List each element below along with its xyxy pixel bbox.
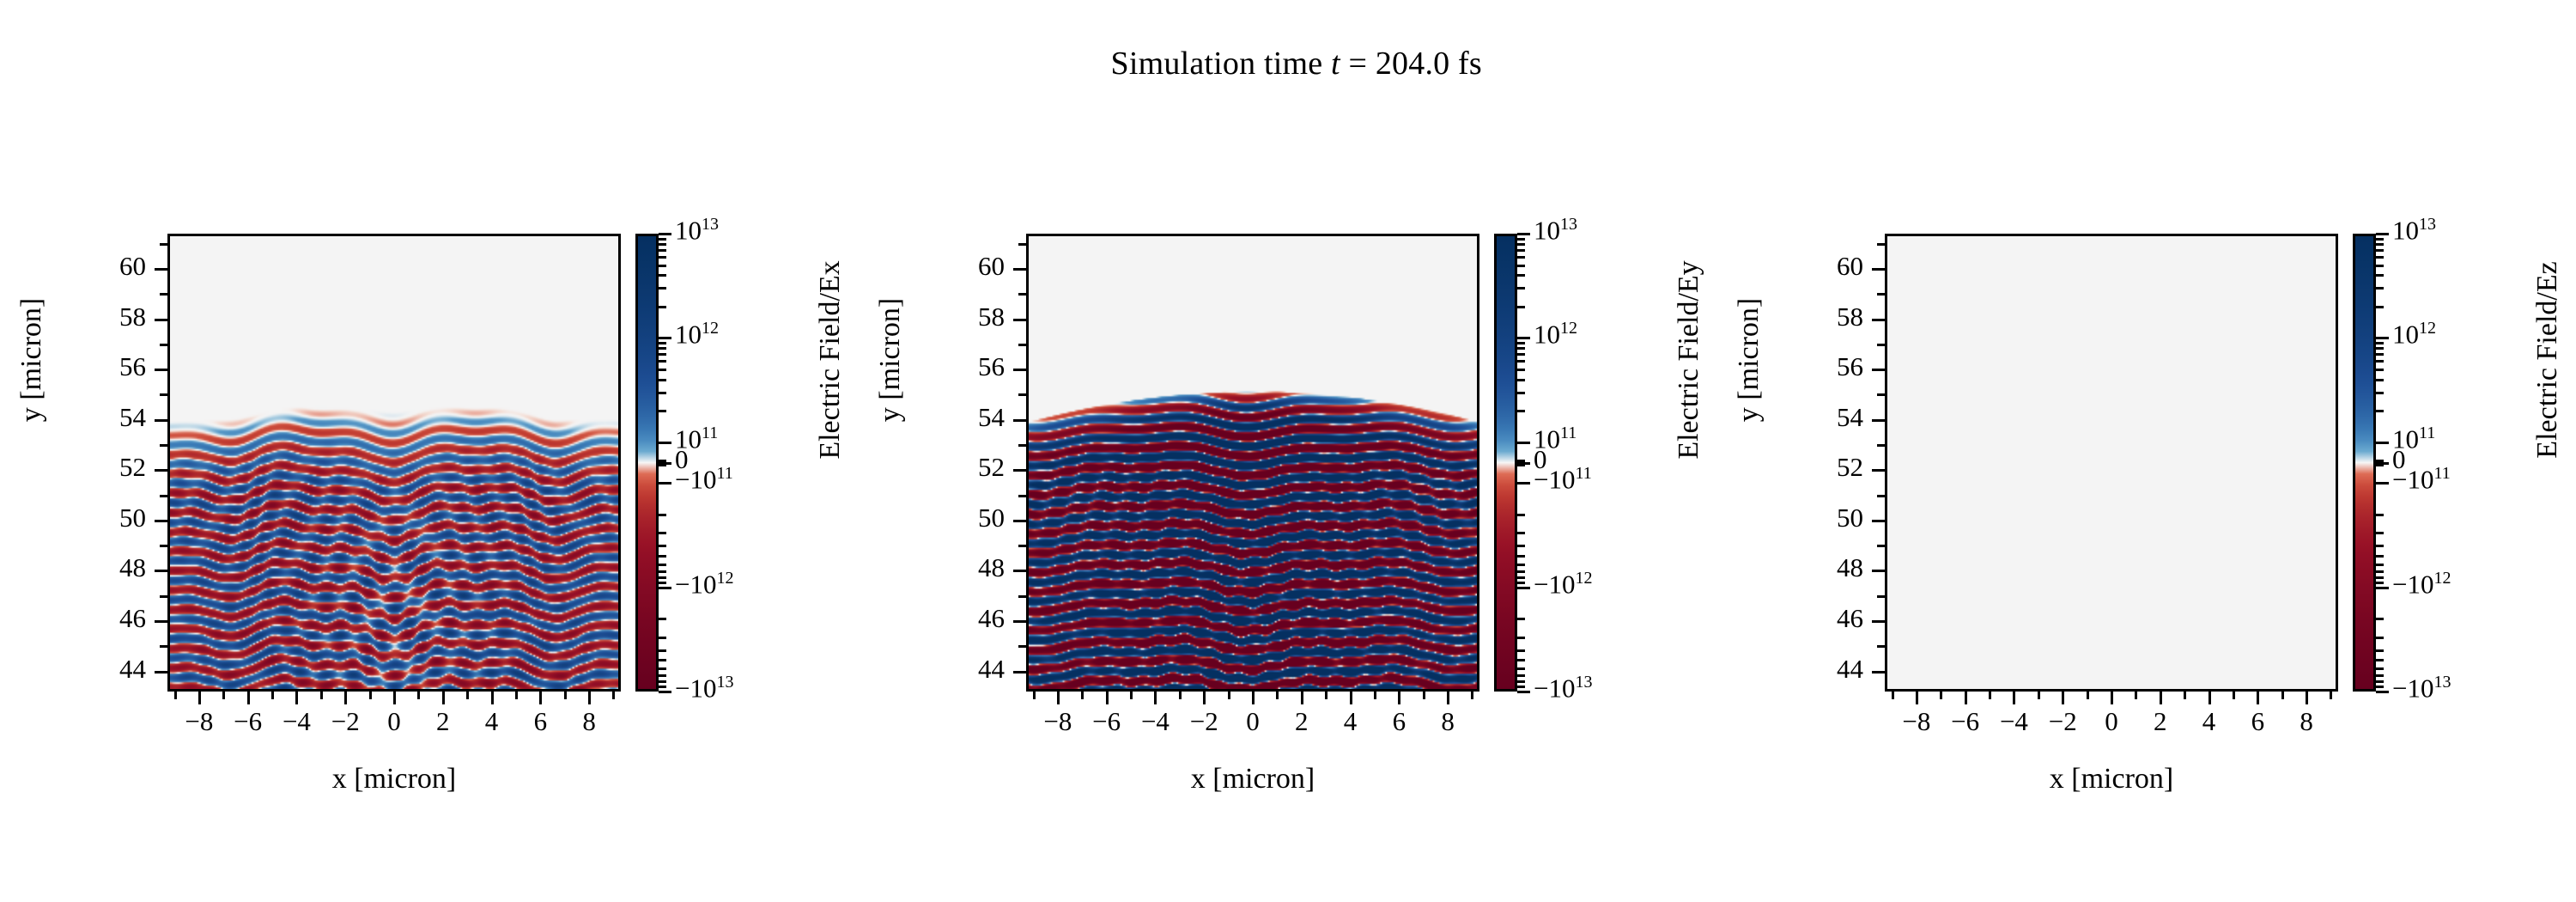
colorbar-axis-title: Electric Field/Ex xyxy=(814,180,847,540)
y-tick-label: 54 xyxy=(1760,402,1863,433)
x-tick-major xyxy=(2111,692,2113,704)
y-tick-minor xyxy=(1018,243,1026,246)
colorbar-tick-minor xyxy=(659,659,666,661)
colorbar-tick-minor xyxy=(1517,342,1525,344)
x-tick-label: 2 xyxy=(1295,706,1309,737)
x-tick-label: −2 xyxy=(2049,706,2077,737)
colorbar-tick-major xyxy=(1517,442,1530,444)
x-tick-major xyxy=(539,692,542,704)
x-tick-minor xyxy=(1179,692,1182,699)
colorbar-tick-minor xyxy=(1517,274,1525,277)
field-heatmap-ex xyxy=(170,236,618,689)
x-tick-major xyxy=(2160,692,2162,704)
colorbar-tick-minor xyxy=(1517,582,1525,584)
colorbar-tick-major xyxy=(1517,233,1530,235)
colorbar-tick-minor xyxy=(659,265,666,267)
colorbar-tick-minor xyxy=(659,410,666,412)
colorbar-tick-minor xyxy=(659,674,666,677)
colorbar-tick-minor xyxy=(2376,555,2384,558)
colorbar-tick-minor xyxy=(659,306,666,308)
colorbar-tick-minor xyxy=(2376,618,2384,620)
y-tick-minor xyxy=(160,393,167,396)
y-tick-minor xyxy=(160,243,167,246)
x-tick-major xyxy=(2013,692,2015,704)
y-tick-minor xyxy=(1018,595,1026,598)
y-tick-label: 52 xyxy=(1760,452,1863,483)
colorbar-ey xyxy=(1494,234,1517,692)
colorbar-tick-major xyxy=(2376,587,2389,589)
y-axis-title: y [micron] xyxy=(874,222,907,497)
y-tick-label: 48 xyxy=(1760,552,1863,583)
x-tick-label: −4 xyxy=(1141,706,1170,737)
colorbar-tick-minor xyxy=(1517,249,1525,252)
colorbar-axis-title: Electric Field/Ey xyxy=(1673,180,1705,540)
y-tick-minor xyxy=(1018,645,1026,648)
colorbar-tick-label: 1013 xyxy=(675,215,719,246)
colorbar-tick-minor xyxy=(1517,545,1525,547)
y-tick-label: 46 xyxy=(902,603,1005,634)
y-tick-label: 58 xyxy=(902,302,1005,332)
y-tick-minor xyxy=(1877,595,1885,598)
y-tick-label: 54 xyxy=(902,402,1005,433)
colorbar-tick-minor xyxy=(1517,659,1525,661)
colorbar-tick-major xyxy=(1517,482,1530,485)
colorbar-tick-label: −1012 xyxy=(675,569,733,600)
colorbar-tick-minor xyxy=(659,347,666,350)
colorbar-tick-label: −1012 xyxy=(2392,569,2451,600)
colorbar-tick-minor xyxy=(659,249,666,252)
x-tick-minor xyxy=(1228,692,1230,699)
colorbar-tick-minor xyxy=(1517,287,1525,289)
x-tick-label: −4 xyxy=(2000,706,2028,737)
x-tick-minor xyxy=(1325,692,1327,699)
colorbar-tick-minor xyxy=(1517,555,1525,558)
colorbar-tick-major xyxy=(2376,482,2389,485)
x-tick-minor xyxy=(466,692,469,699)
x-tick-label: −6 xyxy=(234,706,262,737)
colorbar-tick-minor xyxy=(2376,460,2384,462)
colorbar-tick-minor xyxy=(2376,410,2384,412)
colorbar-tick-minor xyxy=(1517,514,1525,516)
colorbar-tick-minor xyxy=(2376,392,2384,394)
y-tick-major xyxy=(155,520,167,522)
x-tick-major xyxy=(1252,692,1255,704)
x-tick-minor xyxy=(271,692,274,699)
y-tick-label: 50 xyxy=(43,503,146,533)
x-tick-label: −8 xyxy=(1902,706,1930,737)
colorbar-tick-minor xyxy=(1517,460,1525,462)
y-tick-label: 44 xyxy=(43,654,146,685)
colorbar-gradient xyxy=(638,236,656,689)
x-axis-title: x [micron] xyxy=(1026,763,1479,795)
y-tick-major xyxy=(155,570,167,572)
colorbar-tick-minor xyxy=(1517,360,1525,363)
x-tick-major xyxy=(1965,692,1967,704)
colorbar-tick-minor xyxy=(2376,464,2384,466)
colorbar-tick-major xyxy=(659,337,671,339)
x-tick-label: 0 xyxy=(1246,706,1260,737)
y-tick-major xyxy=(155,419,167,422)
y-tick-major xyxy=(155,319,167,321)
colorbar-tick-minor xyxy=(2376,564,2384,566)
x-tick-minor xyxy=(2087,692,2089,699)
y-tick-label: 48 xyxy=(902,552,1005,583)
colorbar-tick-minor xyxy=(659,342,666,344)
colorbar-tick-major xyxy=(2376,233,2389,235)
colorbar-tick-minor xyxy=(659,555,666,558)
colorbar-tick-minor xyxy=(2376,287,2384,289)
colorbar-tick-minor xyxy=(2376,360,2384,363)
x-tick-minor xyxy=(1081,692,1084,699)
y-tick-major xyxy=(155,620,167,623)
x-tick-label: 6 xyxy=(2251,706,2265,737)
x-tick-label: −6 xyxy=(1951,706,1979,737)
colorbar-tick-label: −1013 xyxy=(1534,673,1592,704)
colorbar-tick-minor xyxy=(659,353,666,356)
x-tick-major xyxy=(1106,692,1109,704)
y-tick-major xyxy=(1013,620,1026,623)
x-tick-major xyxy=(1057,692,1060,704)
colorbar-tick-minor xyxy=(659,238,666,241)
panel-ey: 444648505254565860−8−6−4−202468y [micron… xyxy=(859,0,1717,902)
x-tick-major xyxy=(247,692,250,704)
colorbar-tick-minor xyxy=(659,274,666,277)
colorbar-tick-minor xyxy=(2376,379,2384,381)
y-tick-major xyxy=(155,268,167,271)
colorbar-tick-minor xyxy=(1517,369,1525,371)
y-tick-label: 50 xyxy=(902,503,1005,533)
y-tick-major xyxy=(1013,268,1026,271)
colorbar-tick-label: −1011 xyxy=(2392,464,2451,495)
colorbar-tick-minor xyxy=(1517,667,1525,670)
x-tick-major xyxy=(344,692,347,704)
colorbar-tick-minor xyxy=(2376,582,2384,584)
y-tick-label: 58 xyxy=(43,302,146,332)
colorbar-tick-major xyxy=(659,691,671,693)
plot-area-ex xyxy=(167,234,621,692)
x-tick-minor xyxy=(1130,692,1133,699)
y-tick-minor xyxy=(160,293,167,296)
y-tick-minor xyxy=(160,495,167,497)
colorbar-tick-minor xyxy=(1517,265,1525,267)
colorbar-tick-label: 1012 xyxy=(675,319,719,350)
colorbar-tick-minor xyxy=(2376,342,2384,344)
x-tick-major xyxy=(2208,692,2211,704)
y-tick-minor xyxy=(1018,545,1026,547)
colorbar-tick-minor xyxy=(659,680,666,683)
colorbar-tick-major xyxy=(659,233,671,235)
x-tick-major xyxy=(2306,692,2308,704)
colorbar-tick-minor xyxy=(2376,353,2384,356)
y-tick-minor xyxy=(1877,293,1885,296)
colorbar-axis-title: Electric Field/Ez xyxy=(2531,180,2564,540)
colorbar-tick-minor xyxy=(659,637,666,639)
x-tick-minor xyxy=(612,692,615,699)
x-tick-label: 4 xyxy=(1344,706,1358,737)
colorbar-tick-minor xyxy=(2376,265,2384,267)
y-tick-major xyxy=(1013,570,1026,572)
y-tick-minor xyxy=(1877,393,1885,396)
x-tick-minor xyxy=(2281,692,2284,699)
x-tick-minor xyxy=(1374,692,1376,699)
colorbar-tick-minor xyxy=(1517,464,1525,466)
y-tick-major xyxy=(1872,319,1885,321)
y-tick-major xyxy=(1872,268,1885,271)
x-tick-major xyxy=(1301,692,1303,704)
x-tick-label: −8 xyxy=(185,706,213,737)
y-axis-title: y [micron] xyxy=(1733,222,1765,497)
y-tick-minor xyxy=(1018,495,1026,497)
colorbar-tick-minor xyxy=(2376,686,2384,688)
colorbar-tick-minor xyxy=(659,532,666,534)
colorbar-tick-major xyxy=(1517,337,1530,339)
x-tick-minor xyxy=(1940,692,1942,699)
x-tick-major xyxy=(1154,692,1157,704)
x-tick-label: 0 xyxy=(2105,706,2118,737)
panel-ez: 444648505254565860−8−6−4−202468y [micron… xyxy=(1717,0,2576,902)
x-tick-minor xyxy=(174,692,177,699)
x-tick-major xyxy=(442,692,445,704)
colorbar-tick-minor xyxy=(659,392,666,394)
y-tick-minor xyxy=(1018,293,1026,296)
x-tick-label: 8 xyxy=(2300,706,2313,737)
colorbar-tick-major xyxy=(659,587,671,589)
y-tick-minor xyxy=(160,545,167,547)
y-tick-major xyxy=(1872,520,1885,522)
x-tick-major xyxy=(393,692,396,704)
y-tick-minor xyxy=(1018,444,1026,447)
colorbar-tick-minor xyxy=(2376,659,2384,661)
x-tick-minor xyxy=(1892,692,1894,699)
x-tick-major xyxy=(588,692,591,704)
colorbar-tick-label: −1011 xyxy=(1534,464,1592,495)
x-tick-minor xyxy=(417,692,420,699)
x-tick-minor xyxy=(515,692,518,699)
x-tick-minor xyxy=(1276,692,1279,699)
y-tick-minor xyxy=(1877,645,1885,648)
x-tick-label: −2 xyxy=(1190,706,1218,737)
colorbar-tick-minor xyxy=(659,464,666,466)
colorbar-tick-minor xyxy=(1517,353,1525,356)
x-tick-major xyxy=(2257,692,2259,704)
colorbar-tick-minor xyxy=(659,576,666,579)
y-tick-label: 56 xyxy=(1760,351,1863,382)
y-tick-label: 50 xyxy=(1760,503,1863,533)
x-tick-minor xyxy=(564,692,567,699)
y-tick-minor xyxy=(1018,393,1026,396)
x-tick-label: 6 xyxy=(534,706,548,737)
x-tick-minor xyxy=(2184,692,2186,699)
x-tick-minor xyxy=(1989,692,1991,699)
x-tick-minor xyxy=(2038,692,2040,699)
colorbar-tick-label: −1011 xyxy=(675,464,733,495)
x-tick-label: 2 xyxy=(436,706,450,737)
colorbar-tick-minor xyxy=(2376,238,2384,241)
colorbar-tick-minor xyxy=(659,667,666,670)
y-axis-title: y [micron] xyxy=(15,222,48,497)
x-tick-minor xyxy=(1471,692,1473,699)
y-tick-label: 58 xyxy=(1760,302,1863,332)
y-tick-label: 52 xyxy=(43,452,146,483)
colorbar-tick-minor xyxy=(2376,545,2384,547)
x-tick-label: 4 xyxy=(2202,706,2216,737)
colorbar-tick-minor xyxy=(2376,369,2384,371)
x-tick-minor xyxy=(2330,692,2332,699)
colorbar-tick-minor xyxy=(1517,379,1525,381)
colorbar-tick-label: 1012 xyxy=(1534,319,1577,350)
y-tick-label: 44 xyxy=(1760,654,1863,685)
colorbar-tick-minor xyxy=(2376,649,2384,652)
colorbar-tick-minor xyxy=(659,618,666,620)
plot-area-ez xyxy=(1885,234,2338,692)
colorbar-tick-major xyxy=(2376,442,2389,444)
x-tick-minor xyxy=(222,692,225,699)
colorbar-tick-minor xyxy=(1517,532,1525,534)
x-tick-label: 0 xyxy=(387,706,401,737)
colorbar-tick-minor xyxy=(2376,347,2384,350)
x-axis-title: x [micron] xyxy=(167,763,621,795)
y-tick-minor xyxy=(1877,545,1885,547)
x-tick-label: −8 xyxy=(1043,706,1072,737)
colorbar-tick-minor xyxy=(659,545,666,547)
x-tick-label: −6 xyxy=(1092,706,1121,737)
colorbar-tick-minor xyxy=(2376,274,2384,277)
x-tick-major xyxy=(1350,692,1352,704)
x-tick-major xyxy=(1398,692,1400,704)
y-tick-label: 48 xyxy=(43,552,146,583)
colorbar-tick-minor xyxy=(659,649,666,652)
colorbar-tick-minor xyxy=(659,514,666,516)
field-heatmap-ez xyxy=(1887,236,2336,689)
colorbar-tick-minor xyxy=(1517,680,1525,683)
y-tick-major xyxy=(155,369,167,371)
y-tick-major xyxy=(1013,369,1026,371)
y-tick-major xyxy=(1872,671,1885,673)
colorbar-tick-minor xyxy=(659,369,666,371)
colorbar-tick-major xyxy=(2376,691,2389,693)
colorbar-tick-minor xyxy=(659,379,666,381)
y-tick-minor xyxy=(1018,344,1026,346)
colorbar-tick-minor xyxy=(2376,637,2384,639)
x-tick-label: −4 xyxy=(283,706,311,737)
x-tick-label: 6 xyxy=(1393,706,1406,737)
y-tick-label: 46 xyxy=(43,603,146,634)
colorbar-tick-minor xyxy=(659,582,666,584)
x-tick-label: 8 xyxy=(582,706,596,737)
y-tick-minor xyxy=(160,595,167,598)
x-tick-label: 2 xyxy=(2154,706,2167,737)
colorbar-tick-minor xyxy=(1517,576,1525,579)
colorbar-tick-label: 1013 xyxy=(1534,215,1577,246)
x-tick-major xyxy=(1447,692,1449,704)
y-tick-label: 60 xyxy=(1760,251,1863,282)
y-tick-label: 60 xyxy=(43,251,146,282)
y-tick-minor xyxy=(160,444,167,447)
colorbar-tick-minor xyxy=(659,686,666,688)
colorbar-ez xyxy=(2353,234,2376,692)
y-tick-major xyxy=(1013,319,1026,321)
colorbar-tick-minor xyxy=(1517,570,1525,573)
colorbar-tick-minor xyxy=(2376,667,2384,670)
colorbar-tick-minor xyxy=(1517,674,1525,677)
colorbar-tick-major xyxy=(1517,691,1530,693)
field-heatmap-ey xyxy=(1029,236,1477,689)
x-tick-major xyxy=(198,692,201,704)
colorbar-tick-major xyxy=(2376,337,2389,339)
colorbar-tick-minor xyxy=(659,256,666,259)
colorbar-tick-minor xyxy=(1517,392,1525,394)
x-tick-minor xyxy=(2135,692,2137,699)
x-tick-label: −2 xyxy=(331,706,360,737)
x-tick-major xyxy=(491,692,494,704)
colorbar-tick-minor xyxy=(1517,564,1525,566)
colorbar-tick-label: −1013 xyxy=(2392,673,2451,704)
x-tick-major xyxy=(1203,692,1206,704)
y-tick-label: 46 xyxy=(1760,603,1863,634)
colorbar-tick-minor xyxy=(659,287,666,289)
y-tick-minor xyxy=(160,645,167,648)
y-tick-major xyxy=(1013,671,1026,673)
colorbar-tick-minor xyxy=(1517,410,1525,412)
y-tick-label: 60 xyxy=(902,251,1005,282)
colorbar-gradient xyxy=(1497,236,1515,689)
x-tick-label: 4 xyxy=(485,706,499,737)
y-tick-label: 44 xyxy=(902,654,1005,685)
x-tick-minor xyxy=(2233,692,2235,699)
colorbar-tick-minor xyxy=(2376,514,2384,516)
y-tick-major xyxy=(1872,469,1885,472)
y-tick-major xyxy=(1872,369,1885,371)
colorbar-tick-minor xyxy=(2376,576,2384,579)
y-tick-major xyxy=(1013,520,1026,522)
colorbar-gradient xyxy=(2355,236,2373,689)
x-tick-major xyxy=(1916,692,1918,704)
colorbar-tick-label: 1012 xyxy=(2392,319,2436,350)
colorbar-tick-minor xyxy=(1517,637,1525,639)
colorbar-ex xyxy=(635,234,659,692)
y-tick-minor xyxy=(1877,243,1885,246)
x-tick-minor xyxy=(1033,692,1036,699)
colorbar-tick-minor xyxy=(659,360,666,363)
colorbar-tick-major xyxy=(659,482,671,485)
y-tick-minor xyxy=(1877,444,1885,447)
x-tick-major xyxy=(295,692,298,704)
colorbar-tick-label: −1012 xyxy=(1534,569,1592,600)
plot-area-ey xyxy=(1026,234,1479,692)
x-tick-major xyxy=(2062,692,2064,704)
colorbar-tick-minor xyxy=(1517,306,1525,308)
y-tick-minor xyxy=(1877,344,1885,346)
colorbar-tick-minor xyxy=(659,460,666,462)
colorbar-tick-minor xyxy=(1517,618,1525,620)
colorbar-tick-major xyxy=(659,442,671,444)
colorbar-tick-minor xyxy=(2376,256,2384,259)
y-tick-minor xyxy=(1877,495,1885,497)
y-tick-label: 54 xyxy=(43,402,146,433)
colorbar-tick-label: 1013 xyxy=(2392,215,2436,246)
colorbar-tick-minor xyxy=(1517,347,1525,350)
colorbar-tick-major xyxy=(1517,587,1530,589)
colorbar-tick-label: −1013 xyxy=(675,673,733,704)
colorbar-tick-minor xyxy=(2376,243,2384,246)
colorbar-tick-minor xyxy=(2376,532,2384,534)
colorbar-tick-minor xyxy=(2376,306,2384,308)
y-tick-label: 52 xyxy=(902,452,1005,483)
colorbar-tick-minor xyxy=(1517,238,1525,241)
y-tick-major xyxy=(155,469,167,472)
panel-ex: 444648505254565860−8−6−4−202468y [micron… xyxy=(0,0,859,902)
colorbar-tick-minor xyxy=(1517,243,1525,246)
